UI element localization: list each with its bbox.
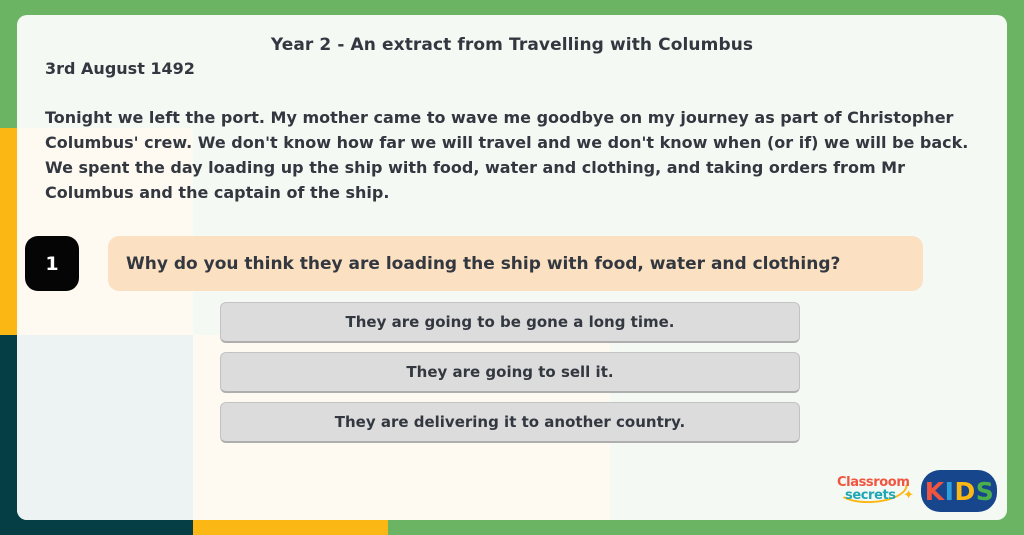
answer-option[interactable]: They are going to sell it. [220,352,800,393]
kids-logo: K I D S [921,470,997,512]
question-text: Why do you think they are loading the sh… [126,254,840,274]
star-icon: ✦ [903,489,914,502]
branding-logos: Classroom secrets ✦ K I D S [835,470,1000,512]
question-box: Why do you think they are loading the sh… [108,236,923,291]
kids-letter-k: K [925,477,944,506]
passage-text: Tonight we left the port. My mother came… [45,105,985,205]
page-title: Year 2 - An extract from Travelling with… [17,35,1007,55]
classroom-secrets-logo: Classroom secrets ✦ [835,474,913,508]
passage-date: 3rd August 1492 [45,59,195,78]
slide-card: Year 2 - An extract from Travelling with… [17,15,1007,520]
question-number-badge: 1 [25,236,79,291]
kids-letter-i: I [945,477,954,506]
question-row: 1 Why do you think they are loading the … [25,227,930,305]
slide-stage: Year 2 - An extract from Travelling with… [0,0,1024,535]
answer-option[interactable]: They are going to be gone a long time. [220,302,800,343]
secrets-wordmark: secrets [845,488,896,503]
kids-letter-d: D [954,477,974,506]
kids-letter-s: S [976,477,994,506]
background-pane-gray-left [17,335,193,520]
answer-options-list: They are going to be gone a long time. T… [220,302,800,452]
answer-option[interactable]: They are delivering it to another countr… [220,402,800,443]
